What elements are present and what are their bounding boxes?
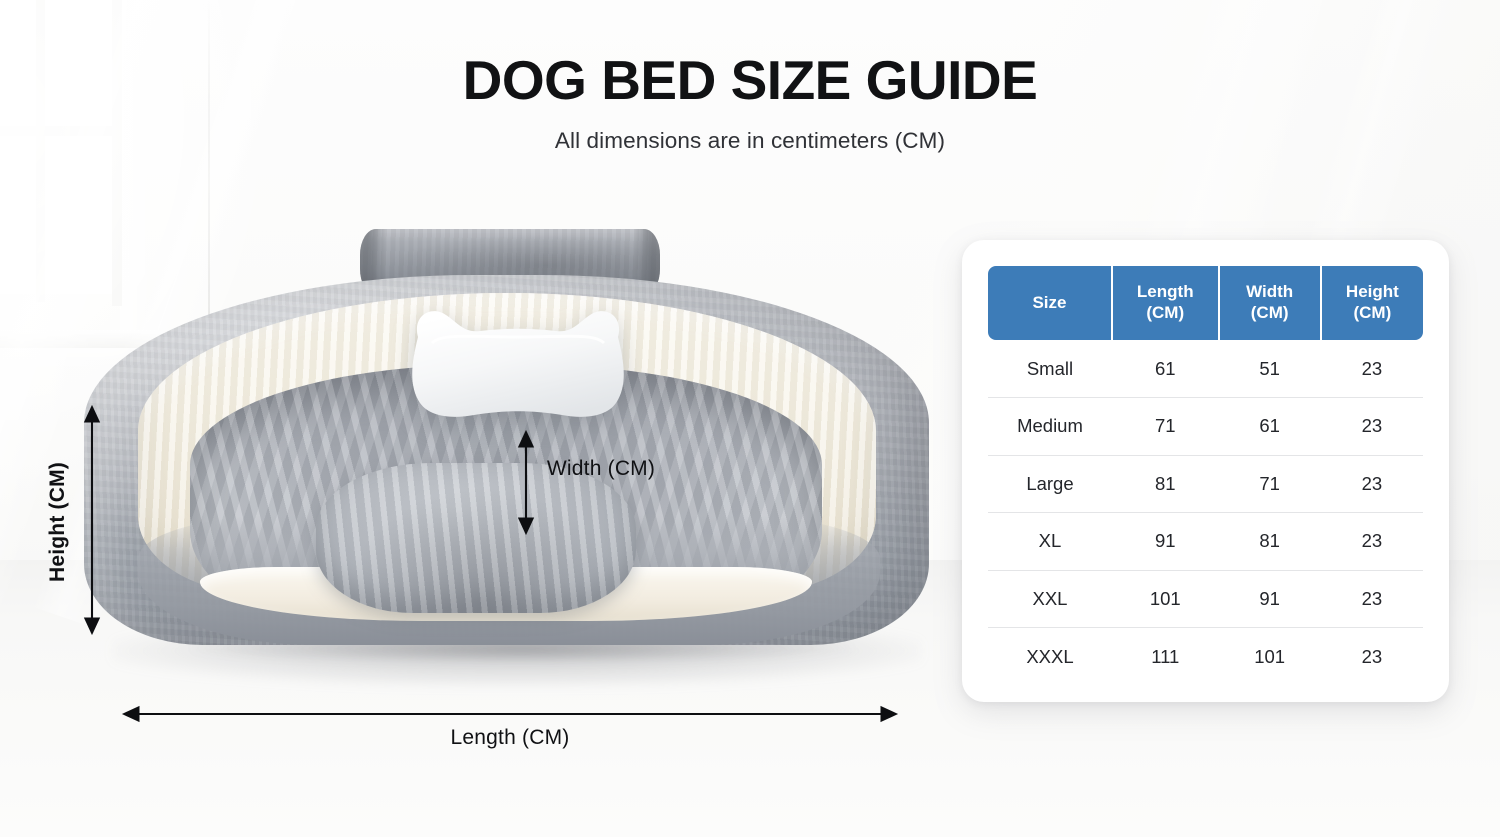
cell-width: 91	[1219, 570, 1321, 628]
cell-height: 23	[1321, 513, 1423, 571]
table-row: Small 61 51 23	[988, 340, 1423, 398]
cell-width: 61	[1219, 398, 1321, 456]
cell-length: 61	[1112, 340, 1219, 398]
column-header-width: Width (CM)	[1219, 266, 1321, 340]
cell-size: Large	[988, 455, 1112, 513]
cell-length: 111	[1112, 628, 1219, 686]
grey-cushion	[316, 463, 636, 613]
cell-height: 23	[1321, 340, 1423, 398]
column-header-length: Length (CM)	[1112, 266, 1219, 340]
cell-height: 23	[1321, 570, 1423, 628]
table-row: XL 91 81 23	[988, 513, 1423, 571]
column-header-length-line2: (CM)	[1146, 303, 1184, 322]
cell-height: 23	[1321, 455, 1423, 513]
cell-length: 91	[1112, 513, 1219, 571]
cell-size: XL	[988, 513, 1112, 571]
table-row: XXXL 111 101 23	[988, 628, 1423, 686]
size-table-header: Size Length (CM) Width (CM) Height (CM)	[988, 266, 1423, 340]
column-header-width-line1: Width	[1246, 282, 1293, 301]
white-bone-pillow	[402, 303, 634, 421]
heading-block: DOG BED SIZE GUIDE All dimensions are in…	[0, 52, 1500, 154]
cell-width: 101	[1219, 628, 1321, 686]
column-header-size-line1: Size	[1032, 293, 1066, 312]
table-row: Large 81 71 23	[988, 455, 1423, 513]
table-row: XXL 101 91 23	[988, 570, 1423, 628]
cell-size: Small	[988, 340, 1112, 398]
page-subtitle: All dimensions are in centimeters (CM)	[0, 128, 1500, 154]
dog-bed-photo	[72, 215, 952, 705]
cell-height: 23	[1321, 398, 1423, 456]
cell-size: XXXL	[988, 628, 1112, 686]
cell-size: Medium	[988, 398, 1112, 456]
cell-height: 23	[1321, 628, 1423, 686]
window-pane	[0, 136, 36, 294]
table-row: Medium 71 61 23	[988, 398, 1423, 456]
column-header-height-line2: (CM)	[1353, 303, 1391, 322]
column-header-height-line1: Height	[1346, 282, 1399, 301]
column-header-width-line2: (CM)	[1251, 303, 1289, 322]
cell-width: 71	[1219, 455, 1321, 513]
size-table-body: Small 61 51 23 Medium 71 61 23 Large 81 …	[988, 340, 1423, 685]
cell-width: 81	[1219, 513, 1321, 571]
cell-size: XXL	[988, 570, 1112, 628]
cell-width: 51	[1219, 340, 1321, 398]
column-header-size: Size	[988, 266, 1112, 340]
size-table: Size Length (CM) Width (CM) Height (CM) …	[988, 266, 1423, 685]
size-table-card: Size Length (CM) Width (CM) Height (CM) …	[962, 240, 1449, 702]
column-header-height: Height (CM)	[1321, 266, 1423, 340]
table-header-row: Size Length (CM) Width (CM) Height (CM)	[988, 266, 1423, 340]
cell-length: 81	[1112, 455, 1219, 513]
column-header-length-line1: Length	[1137, 282, 1194, 301]
page-title: DOG BED SIZE GUIDE	[0, 52, 1500, 108]
cell-length: 71	[1112, 398, 1219, 456]
cell-length: 101	[1112, 570, 1219, 628]
